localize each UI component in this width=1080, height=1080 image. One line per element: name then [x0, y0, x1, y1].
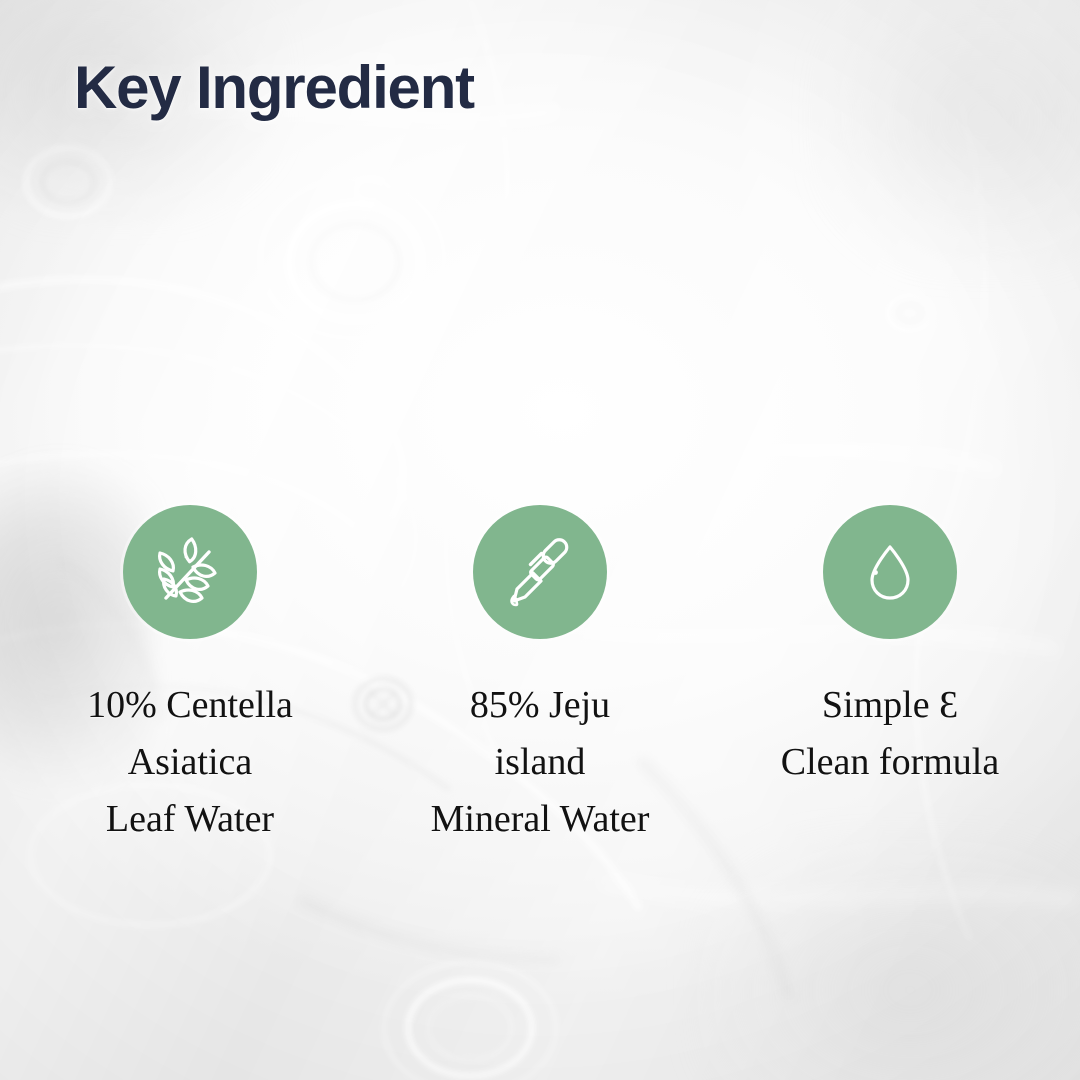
leaf-branch-icon: [153, 535, 227, 609]
feature-row: 10% Centella Asiatica Leaf Water: [0, 505, 1080, 848]
feature-caption: Simple Ɛ Clean formula: [781, 677, 999, 791]
feature-item-clean-formula: Simple Ɛ Clean formula: [715, 505, 1065, 791]
feature-caption: 10% Centella Asiatica Leaf Water: [87, 677, 293, 848]
key-ingredient-banner: Key Ingredient: [0, 0, 1080, 1080]
feature-item-centella: 10% Centella Asiatica Leaf Water: [15, 505, 365, 848]
water-droplet-icon: [853, 535, 927, 609]
feature-icon-circle: [823, 505, 957, 639]
feature-icon-circle: [473, 505, 607, 639]
feature-caption: 85% Jeju island Mineral Water: [431, 677, 650, 848]
feature-icon-circle: [123, 505, 257, 639]
feature-item-mineral-water: 85% Jeju island Mineral Water: [365, 505, 715, 848]
dropper-pipette-icon: [503, 535, 577, 609]
page-title: Key Ingredient: [74, 58, 474, 118]
